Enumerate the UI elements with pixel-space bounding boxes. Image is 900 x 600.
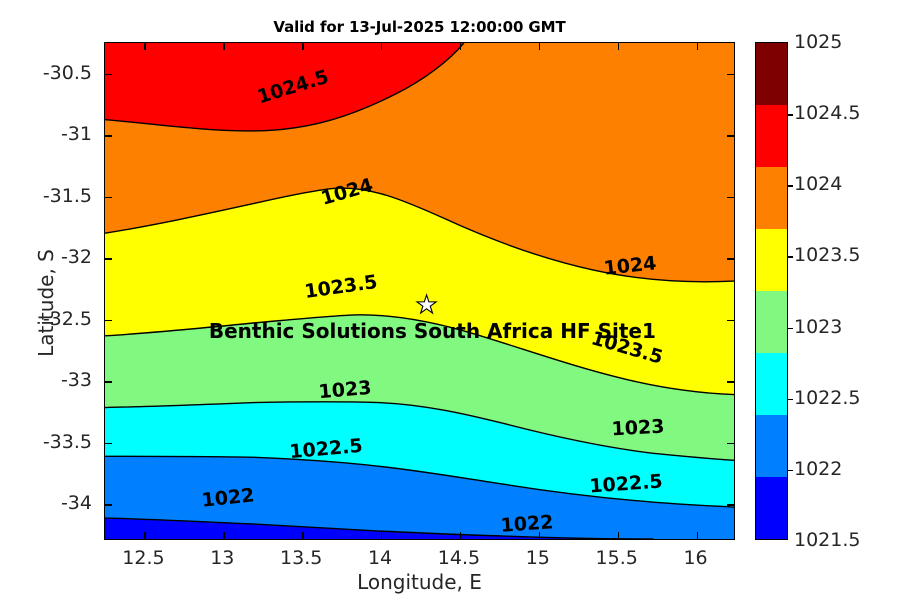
y-axis-tick: [105, 135, 112, 136]
x-axis-tick: [144, 43, 145, 50]
colorbar-tick: [787, 185, 793, 186]
colorbar-band: [756, 105, 787, 167]
colorbar-tick-label: 1021.5: [794, 529, 860, 551]
x-axis-tick: [618, 43, 619, 50]
colorbar-tick-label: 1025: [794, 31, 842, 53]
y-axis-title: Latitude, S: [34, 163, 58, 443]
y-axis-tick: [727, 74, 734, 75]
x-axis-tick: [460, 532, 461, 539]
colorbar-tick-label: 1022: [794, 458, 842, 480]
colorbar-tick-label: 1023: [794, 316, 842, 338]
x-axis-tick-label: 15: [526, 547, 550, 569]
y-axis-tick: [105, 320, 112, 321]
x-axis-tick: [144, 532, 145, 539]
contour-label: 1022: [500, 511, 554, 537]
x-axis-tick: [460, 43, 461, 50]
y-axis-tick: [727, 197, 734, 198]
colorbar-tick-label: 1023.5: [794, 244, 860, 266]
colorbar-tick: [787, 399, 793, 400]
y-axis-tick: [105, 258, 112, 259]
y-axis-tick-label: -31: [0, 123, 92, 145]
x-axis-tick: [381, 532, 382, 539]
colorbar[interactable]: [755, 42, 788, 540]
y-axis-tick: [105, 381, 112, 382]
colorbar-tick: [787, 328, 793, 329]
colorbar-tick-label: 1022.5: [794, 387, 860, 409]
star-marker-icon: ★: [415, 292, 437, 317]
colorbar-band: [756, 291, 787, 353]
colorbar-band: [756, 353, 787, 415]
y-axis-tick-label: -30.5: [0, 62, 92, 84]
x-axis-tick: [302, 532, 303, 539]
colorbar-band: [756, 415, 787, 477]
x-axis-tick: [302, 43, 303, 50]
contour-label: 1023: [318, 377, 373, 404]
x-axis-title: Longitude, E: [104, 570, 735, 594]
x-axis-tick: [223, 43, 224, 50]
y-axis-tick: [105, 443, 112, 444]
site-label: Benthic Solutions South Africa HF Site1: [209, 319, 656, 343]
x-axis-tick-label: 12.5: [122, 547, 164, 569]
x-axis-tick: [618, 532, 619, 539]
colorbar-band: [756, 43, 787, 105]
x-axis-tick-label: 14: [368, 547, 392, 569]
y-axis-tick: [105, 74, 112, 75]
y-axis-tick: [727, 135, 734, 136]
y-axis-tick: [727, 381, 734, 382]
colorbar-tick: [787, 256, 793, 257]
colorbar-band: [756, 477, 787, 539]
page-title: Valid for 13-Jul-2025 12:00:00 GMT: [104, 18, 735, 36]
x-axis-tick-label: 13.5: [280, 547, 322, 569]
y-axis-tick: [727, 258, 734, 259]
x-axis-tick-label: 16: [683, 547, 707, 569]
y-axis-tick: [105, 504, 112, 505]
x-axis-tick: [223, 532, 224, 539]
x-axis-tick-label: 14.5: [438, 547, 480, 569]
y-axis-tick: [105, 197, 112, 198]
colorbar-tick-label: 1024.5: [794, 102, 860, 124]
x-axis-tick-label: 13: [210, 547, 234, 569]
contour-label: 1023: [611, 416, 665, 441]
x-axis-tick-label: 15.5: [596, 547, 638, 569]
colorbar-band: [756, 229, 787, 291]
y-axis-tick: [727, 443, 734, 444]
colorbar-band: [756, 167, 787, 229]
colorbar-tick: [787, 114, 793, 115]
colorbar-tick: [787, 470, 793, 471]
x-axis-tick: [697, 532, 698, 539]
y-axis-tick-label: -34: [0, 492, 92, 514]
x-axis-tick: [697, 43, 698, 50]
colorbar-tick-label: 1024: [794, 173, 842, 195]
x-axis-tick: [539, 43, 540, 50]
x-axis-tick: [381, 43, 382, 50]
y-axis-tick: [727, 320, 734, 321]
y-axis-tick: [727, 504, 734, 505]
